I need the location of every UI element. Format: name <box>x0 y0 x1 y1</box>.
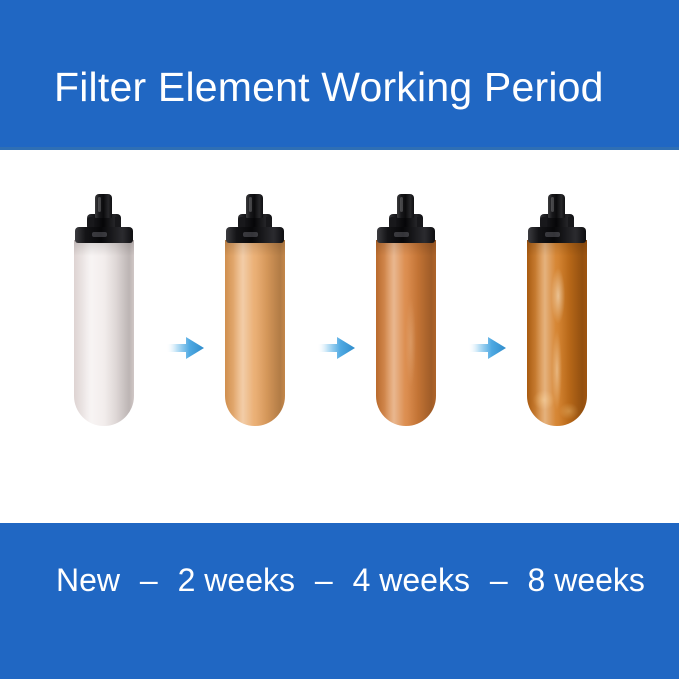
stage-separator-2: – <box>304 559 344 601</box>
header-banner: Filter Element Working Period <box>0 0 679 150</box>
filter-element-8-weeks <box>527 150 587 470</box>
diagram-area <box>0 150 679 523</box>
filter-body <box>527 240 587 426</box>
filter-body-fill <box>74 240 134 426</box>
arrow-right-icon-1 <box>166 335 204 361</box>
filter-cap-stem-icon <box>397 194 414 218</box>
filter-body <box>376 240 436 426</box>
filter-cap-stem-icon <box>548 194 565 218</box>
stage-separator-3: – <box>479 559 519 601</box>
filter-cap-flange-icon <box>226 227 284 243</box>
stage-label-4-weeks: 4 weeks <box>353 559 470 601</box>
filter-cap-stem-icon <box>95 194 112 218</box>
filter-body <box>74 240 134 426</box>
filter-element-2-weeks <box>225 150 285 470</box>
arrow-right-icon-2 <box>317 335 355 361</box>
stage-separator-1: – <box>129 559 169 601</box>
filter-body-fill <box>527 240 587 426</box>
page-title: Filter Element Working Period <box>54 60 604 114</box>
stage-label-2-weeks: 2 weeks <box>178 559 295 601</box>
filter-element-new <box>74 150 134 470</box>
filter-element-4-weeks <box>376 150 436 470</box>
stage-caption: New – 2 weeks – 4 weeks – 8 weeks <box>56 559 645 601</box>
footer-banner: New – 2 weeks – 4 weeks – 8 weeks <box>0 523 679 679</box>
filter-cap-flange-icon <box>75 227 133 243</box>
filter-body <box>225 240 285 426</box>
infographic-page: Filter Element Working Period <box>0 0 679 679</box>
filter-cap-flange-icon <box>528 227 586 243</box>
stage-label-new: New <box>56 559 120 601</box>
stage-label-8-weeks: 8 weeks <box>528 559 645 601</box>
arrow-right-icon-3 <box>468 335 506 361</box>
filter-cap-stem-icon <box>246 194 263 218</box>
filter-body-fill <box>225 240 285 426</box>
filter-cap-flange-icon <box>377 227 435 243</box>
filter-body-fill <box>376 240 436 426</box>
